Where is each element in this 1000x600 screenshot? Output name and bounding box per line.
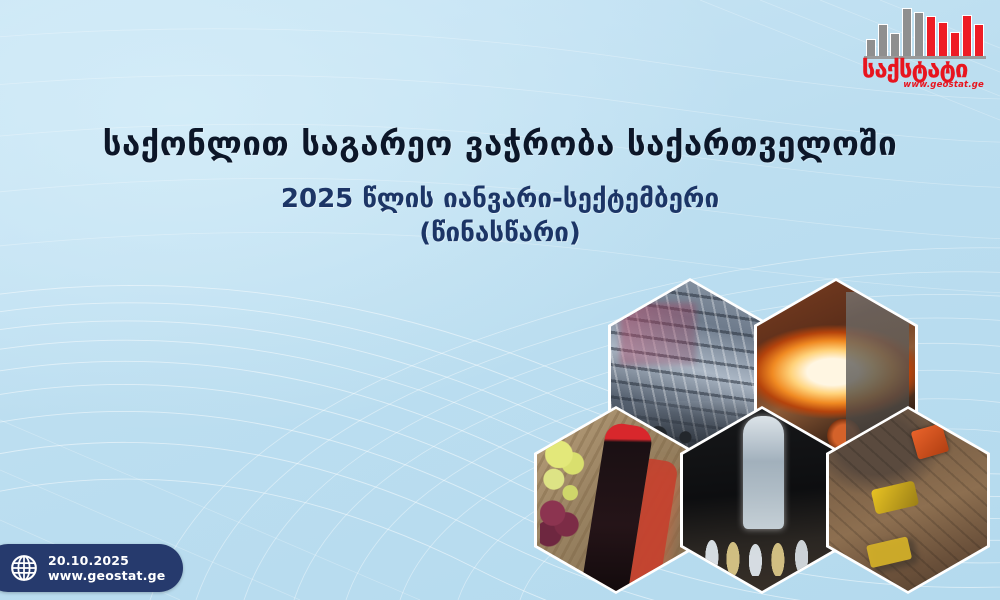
logo-bar [974,24,984,56]
logo-bar [914,12,924,56]
logo-bar [962,15,972,56]
hexagon-photo-cluster [528,278,1000,600]
page-title: საქონლით საგარეო ვაჭრობა საქართველოში [0,124,1000,163]
logo-wordmark: საქსტატი [862,58,986,82]
logo-bar-chart-icon [866,8,984,56]
footer-text-block: 20.10.2025 www.geostat.ge [48,553,165,583]
logo-url: www.geostat.ge [903,80,984,90]
geostat-logo[interactable]: საქსტატი www.geostat.ge [858,8,986,94]
footer-date: 20.10.2025 [48,553,165,568]
logo-bar [866,39,876,56]
globe-icon [10,554,38,582]
footer-info-badge[interactable]: 20.10.2025 www.geostat.ge [0,544,183,592]
logo-bar [878,24,888,56]
logo-bar [926,16,936,56]
subtitle-period: 2025 წლის იანვარი-სექტემბერი [0,182,1000,216]
logo-bar [890,33,900,56]
logo-bar [902,8,912,56]
logo-bar [938,22,948,56]
subtitle-preliminary: (წინასწარი) [0,216,1000,250]
logo-bar [950,32,960,56]
footer-url[interactable]: www.geostat.ge [48,568,165,583]
subtitle-block: 2025 წლის იანვარი-სექტემბერი (წინასწარი) [0,182,1000,250]
